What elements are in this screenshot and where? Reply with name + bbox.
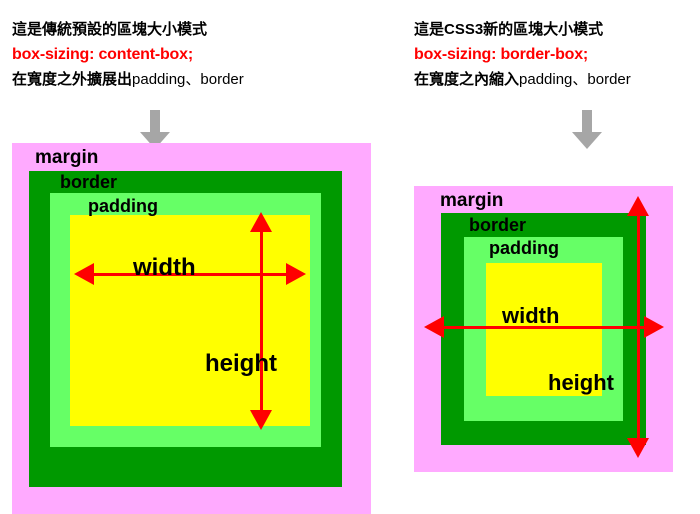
arrow-head-down (627, 438, 649, 458)
width-label: width (502, 303, 559, 329)
caption-left-line-1: 這是傳統預設的區塊大小模式 (12, 17, 244, 42)
padding-label: padding (88, 196, 158, 217)
caption-left-line-3: 在寬度之外擴展出padding、border (12, 67, 244, 92)
border-label: border (469, 215, 526, 236)
caption-border-box: 這是CSS3新的區塊大小模式 box-sizing: border-box; 在… (414, 17, 631, 92)
arrow-shaft (260, 226, 263, 416)
height-label: height (548, 370, 614, 396)
caption-right-line-3: 在寬度之內縮入padding、border (414, 67, 631, 92)
caption-right-code: box-sizing: border-box; (414, 42, 631, 67)
border-label: border (60, 172, 117, 193)
padding-label: padding (489, 238, 559, 259)
margin-label: margin (35, 147, 98, 169)
arrow-shaft (637, 210, 640, 444)
caption-right-line-1: 這是CSS3新的區塊大小模式 (414, 17, 631, 42)
arrow-shaft (150, 110, 160, 132)
caption-left-code: box-sizing: content-box; (12, 42, 244, 67)
arrow-head (572, 132, 602, 149)
height-dimension-arrow (240, 212, 282, 430)
diagram-canvas: 這是傳統預設的區塊大小模式 box-sizing: content-box; 在… (0, 0, 700, 514)
height-dimension-arrow (617, 196, 659, 458)
arrow-head-right (286, 263, 306, 285)
height-label: height (205, 350, 277, 378)
caption-right-line-3-thin: padding、border (519, 71, 631, 88)
caption-content-box: 這是傳統預設的區塊大小模式 box-sizing: content-box; 在… (12, 17, 244, 92)
arrow-down-icon (572, 110, 602, 149)
arrow-head-down (250, 410, 272, 430)
width-label: width (133, 254, 196, 282)
margin-label: margin (440, 190, 503, 212)
caption-left-line-3-thin: padding、border (132, 71, 244, 88)
caption-left-line-3-bold: 在寬度之外擴展出 (12, 71, 132, 88)
caption-right-line-3-bold: 在寬度之內縮入 (414, 71, 519, 88)
arrow-shaft (582, 110, 592, 132)
